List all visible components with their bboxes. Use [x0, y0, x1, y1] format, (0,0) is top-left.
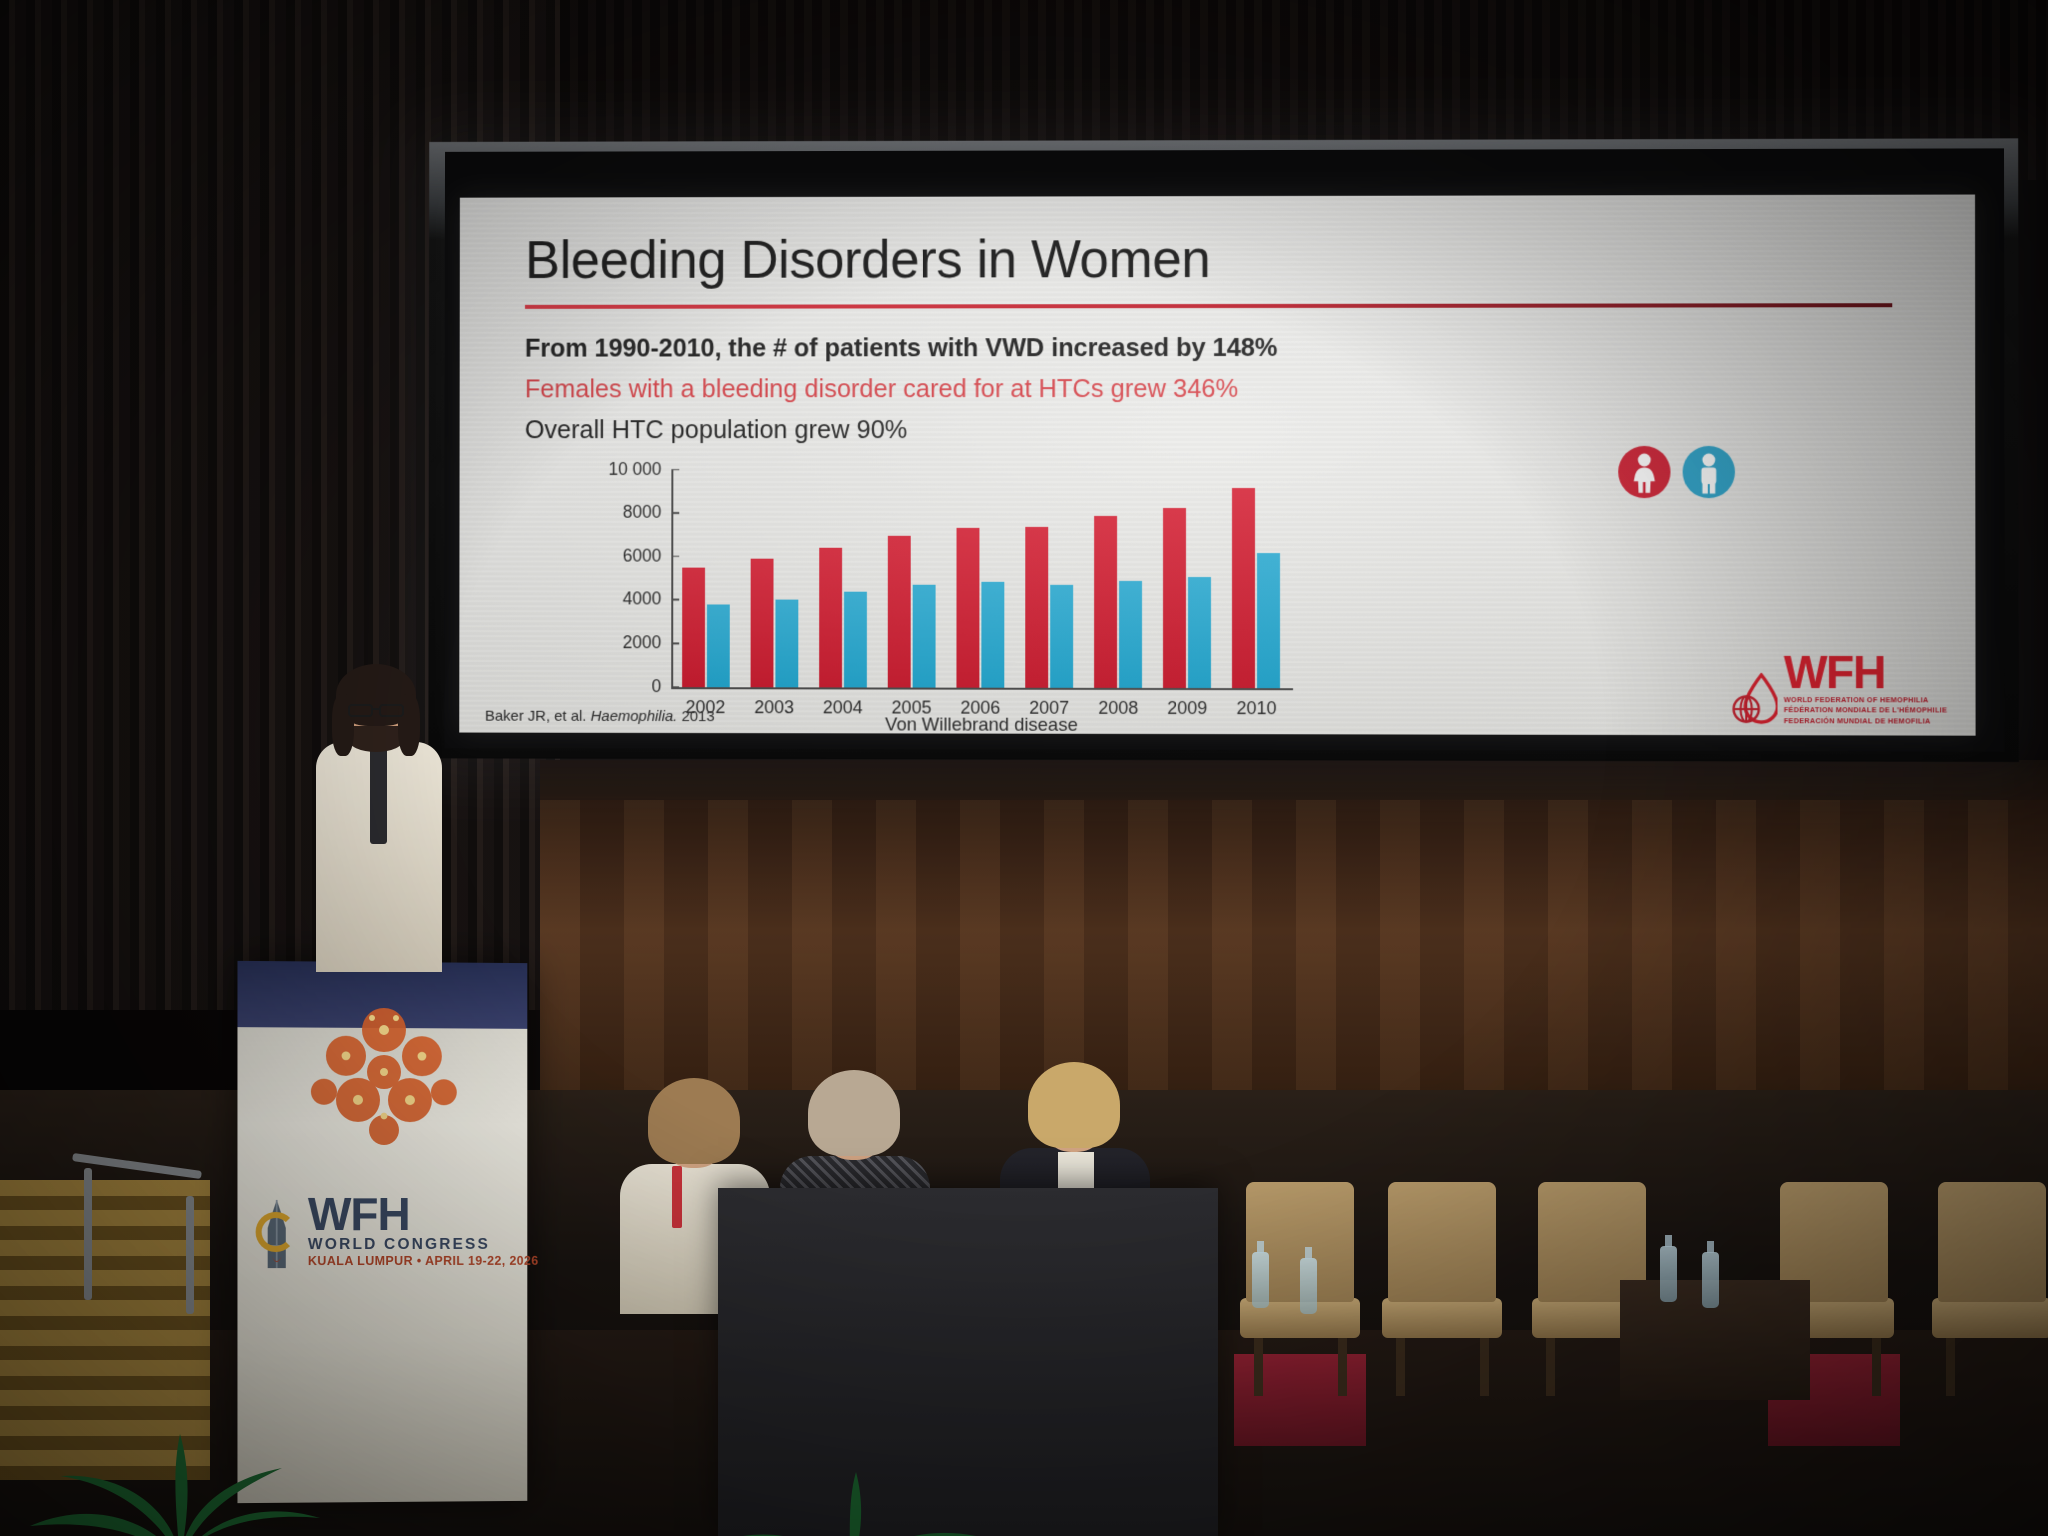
- railing-post-1: [84, 1168, 92, 1300]
- chart-x-axis-title: Von Willebrand disease: [671, 713, 1293, 736]
- podium-wordmark: WFH: [308, 1194, 539, 1235]
- panelist-1-hair: [648, 1078, 740, 1164]
- slide-title: Bleeding Disorders in Women: [525, 231, 1914, 289]
- bar-males-2006: [981, 582, 1004, 688]
- chart-bar-groups: [671, 470, 1291, 688]
- bar-males-2010: [1257, 554, 1280, 688]
- petronas-tower-icon: [254, 1194, 300, 1268]
- male-icon: [1683, 445, 1735, 497]
- bar-females-2008: [1094, 516, 1117, 687]
- conference-scene: Bleeding Disorders in Women From 1990-20…: [0, 0, 2048, 1536]
- bar-group-2003: [740, 470, 809, 687]
- chart-legend: [1618, 445, 1735, 497]
- wfh-subtitle-fr: FÉDÉRATION MONDIALE DE L'HÉMOPHILIE: [1784, 705, 1947, 715]
- bar-group-2004: [808, 470, 877, 688]
- podium-wfh-logo: WFH WORLD CONGRESS KUALA LUMPUR • APRIL …: [254, 1194, 512, 1268]
- chair-5-back: [1938, 1182, 2046, 1302]
- bar-females-2009: [1163, 508, 1186, 688]
- chair-2-seat: [1382, 1298, 1502, 1338]
- chart-plot-area: 200220032004200520062007200820092010: [671, 470, 1291, 688]
- water-bottle-2: [1300, 1258, 1317, 1314]
- slide-line-2: Females with a bleeding disorder cared f…: [525, 368, 1915, 410]
- citation-year: 2013: [682, 708, 715, 725]
- chair-3-leg-left: [1546, 1334, 1555, 1396]
- foreground-plant-left: [20, 1400, 340, 1536]
- bar-females-2003: [750, 559, 773, 687]
- bar-females-2005: [888, 536, 911, 687]
- chair-2-leg-right: [1480, 1334, 1489, 1396]
- wfh-subtitle-en: WORLD FEDERATION OF HEMOPHILIA: [1784, 695, 1947, 705]
- chair-1-leg-left: [1254, 1334, 1263, 1396]
- slide-bullet-lines: From 1990-2010, the # of patients with V…: [525, 327, 1915, 452]
- bar-males-2004: [844, 591, 867, 687]
- presenter-beard: [348, 726, 404, 752]
- chair-5-seat: [1932, 1298, 2048, 1338]
- bar-males-2007: [1050, 585, 1073, 687]
- bar-males-2002: [706, 604, 729, 687]
- stage-wood-panels: [540, 800, 2048, 1090]
- podium-ring-icon: [256, 1212, 296, 1252]
- chair-5: [1930, 1182, 2048, 1392]
- bar-females-2007: [1025, 527, 1048, 687]
- title-divider: [525, 303, 1892, 309]
- bar-group-2008: [1084, 470, 1153, 688]
- chair-1-leg-right: [1338, 1334, 1347, 1396]
- bar-males-2005: [913, 585, 936, 687]
- bar-females-2002: [682, 567, 705, 686]
- presenter-tie: [370, 748, 387, 844]
- foreground-plant-right: [1670, 1468, 1970, 1536]
- water-bottle-1: [1252, 1252, 1269, 1308]
- water-bottle-3: [1660, 1246, 1677, 1302]
- podium-congress-label: WORLD CONGRESS: [308, 1236, 539, 1254]
- podium-location-date: KUALA LUMPUR • APRIL 19-22, 2026: [308, 1254, 539, 1268]
- presenter-glasses-icon: [348, 704, 404, 717]
- bar-females-2004: [819, 548, 842, 687]
- panelist-3-hair: [1028, 1062, 1120, 1148]
- foreground-plant-center: [700, 1452, 1000, 1536]
- bar-females-2010: [1232, 488, 1255, 688]
- bar-chart: 0200040006000800010 000 2002200320042005…: [525, 462, 1925, 736]
- bar-males-2003: [775, 600, 798, 687]
- panelist-2-hair: [808, 1070, 900, 1156]
- wfh-wordmark: WFH: [1784, 651, 1948, 694]
- bar-group-2002: [671, 470, 740, 687]
- water-bottle-4: [1702, 1252, 1719, 1308]
- chair-2: [1380, 1182, 1504, 1392]
- wfh-droplet-globe-icon: [1731, 673, 1777, 725]
- chair-2-leg-left: [1396, 1334, 1405, 1396]
- bar-group-2006: [946, 470, 1015, 688]
- panelist-1-lanyard: [672, 1166, 682, 1228]
- bar-females-2006: [956, 528, 979, 687]
- chair-4-leg-right: [1872, 1334, 1881, 1396]
- bar-group-2007: [1015, 470, 1084, 688]
- wfh-subtitle-es: FEDERACIÓN MUNDIAL DE HEMOFILIA: [1784, 716, 1947, 726]
- presenter-at-podium: [318, 672, 438, 972]
- bar-males-2008: [1119, 581, 1142, 688]
- chair-5-leg-left: [1946, 1334, 1955, 1396]
- railing-post-2: [186, 1196, 194, 1314]
- bar-group-2005: [877, 470, 946, 688]
- slide-line-1: From 1990-2010, the # of patients with V…: [525, 327, 1915, 370]
- bar-group-2009: [1153, 470, 1222, 688]
- bar-group-2010: [1222, 470, 1291, 688]
- bar-males-2009: [1188, 577, 1211, 687]
- presentation-slide: Bleeding Disorders in Women From 1990-20…: [459, 195, 1975, 736]
- slide-citation: Baker JR, et al. Haemophilia. 2013: [485, 708, 715, 725]
- podium-batik-motif-icon: [294, 995, 474, 1156]
- citation-author: Baker JR, et al.: [485, 708, 587, 725]
- chair-2-back: [1388, 1182, 1496, 1302]
- wfh-logo-slide: WFH WORLD FEDERATION OF HEMOPHILIA FÉDÉR…: [1731, 651, 1947, 726]
- citation-journal: Haemophilia.: [591, 708, 678, 725]
- female-icon: [1618, 445, 1670, 497]
